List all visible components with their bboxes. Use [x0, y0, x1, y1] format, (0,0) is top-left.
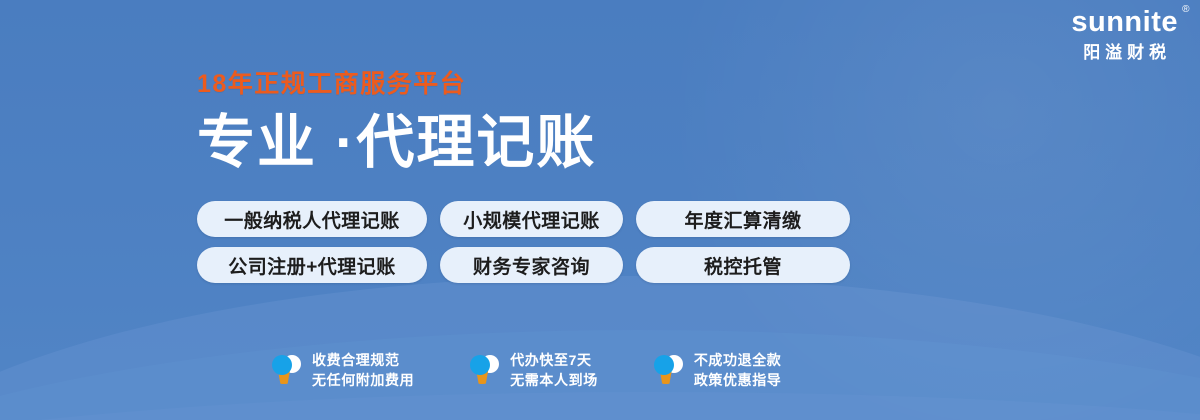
logo-wordmark-text: sunnite	[1071, 6, 1178, 38]
logo-wordmark: sunnite ®	[1071, 8, 1178, 37]
service-pill-tax-control-hosting[interactable]: 税控托管	[636, 247, 850, 283]
feature-line-1: 收费合理规范	[312, 350, 414, 370]
service-pill-finance-consulting[interactable]: 财务专家咨询	[440, 247, 623, 283]
registered-trademark-icon: ®	[1182, 5, 1190, 15]
service-pill-general-taxpayer[interactable]: 一般纳税人代理记账	[197, 201, 427, 237]
feature-item-speed: 代办快至7天 无需本人到场	[470, 350, 598, 391]
feature-line-1: 不成功退全款	[694, 350, 782, 370]
feature-line-1: 代办快至7天	[510, 350, 598, 370]
logo-chinese-name: 阳溢财税	[1071, 44, 1178, 61]
page-title: 专业 ·代理记账	[197, 113, 596, 174]
headline-block: 18年正规工商服务平台 专业 ·代理记账	[197, 72, 596, 174]
feature-line-2: 无任何附加费用	[312, 370, 414, 390]
circle-moon-cup-icon	[654, 353, 684, 387]
service-pill-row-2: 公司注册+代理记账 财务专家咨询 税控托管	[197, 247, 850, 283]
circle-shape	[654, 355, 674, 375]
headline-kicker: 18年正规工商服务平台	[197, 72, 596, 97]
feature-text-speed: 代办快至7天 无需本人到场	[510, 350, 598, 391]
feature-item-guarantee: 不成功退全款 政策优惠指导	[654, 350, 782, 391]
service-pill-company-registration[interactable]: 公司注册+代理记账	[197, 247, 427, 283]
feature-line-2: 政策优惠指导	[694, 370, 782, 390]
service-pill-group: 一般纳税人代理记账 小规模代理记账 年度汇算清缴 公司注册+代理记账 财务专家咨…	[197, 201, 850, 283]
feature-item-pricing: 收费合理规范 无任何附加费用	[272, 350, 414, 391]
feature-text-pricing: 收费合理规范 无任何附加费用	[312, 350, 414, 391]
circle-moon-cup-icon	[272, 353, 302, 387]
feature-list: 收费合理规范 无任何附加费用 代办快至7天 无需本人到场 不成功退全款	[272, 350, 781, 391]
circle-moon-cup-icon	[470, 353, 500, 387]
company-logo[interactable]: sunnite ® 阳溢财税	[1071, 8, 1178, 61]
service-pill-annual-settlement[interactable]: 年度汇算清缴	[636, 201, 850, 237]
service-pill-small-scale[interactable]: 小规模代理记账	[440, 201, 623, 237]
feature-line-2: 无需本人到场	[510, 370, 598, 390]
service-pill-row-1: 一般纳税人代理记账 小规模代理记账 年度汇算清缴	[197, 201, 850, 237]
feature-text-guarantee: 不成功退全款 政策优惠指导	[694, 350, 782, 391]
promo-banner: sunnite ® 阳溢财税 18年正规工商服务平台 专业 ·代理记账 一般纳税…	[0, 0, 1200, 420]
